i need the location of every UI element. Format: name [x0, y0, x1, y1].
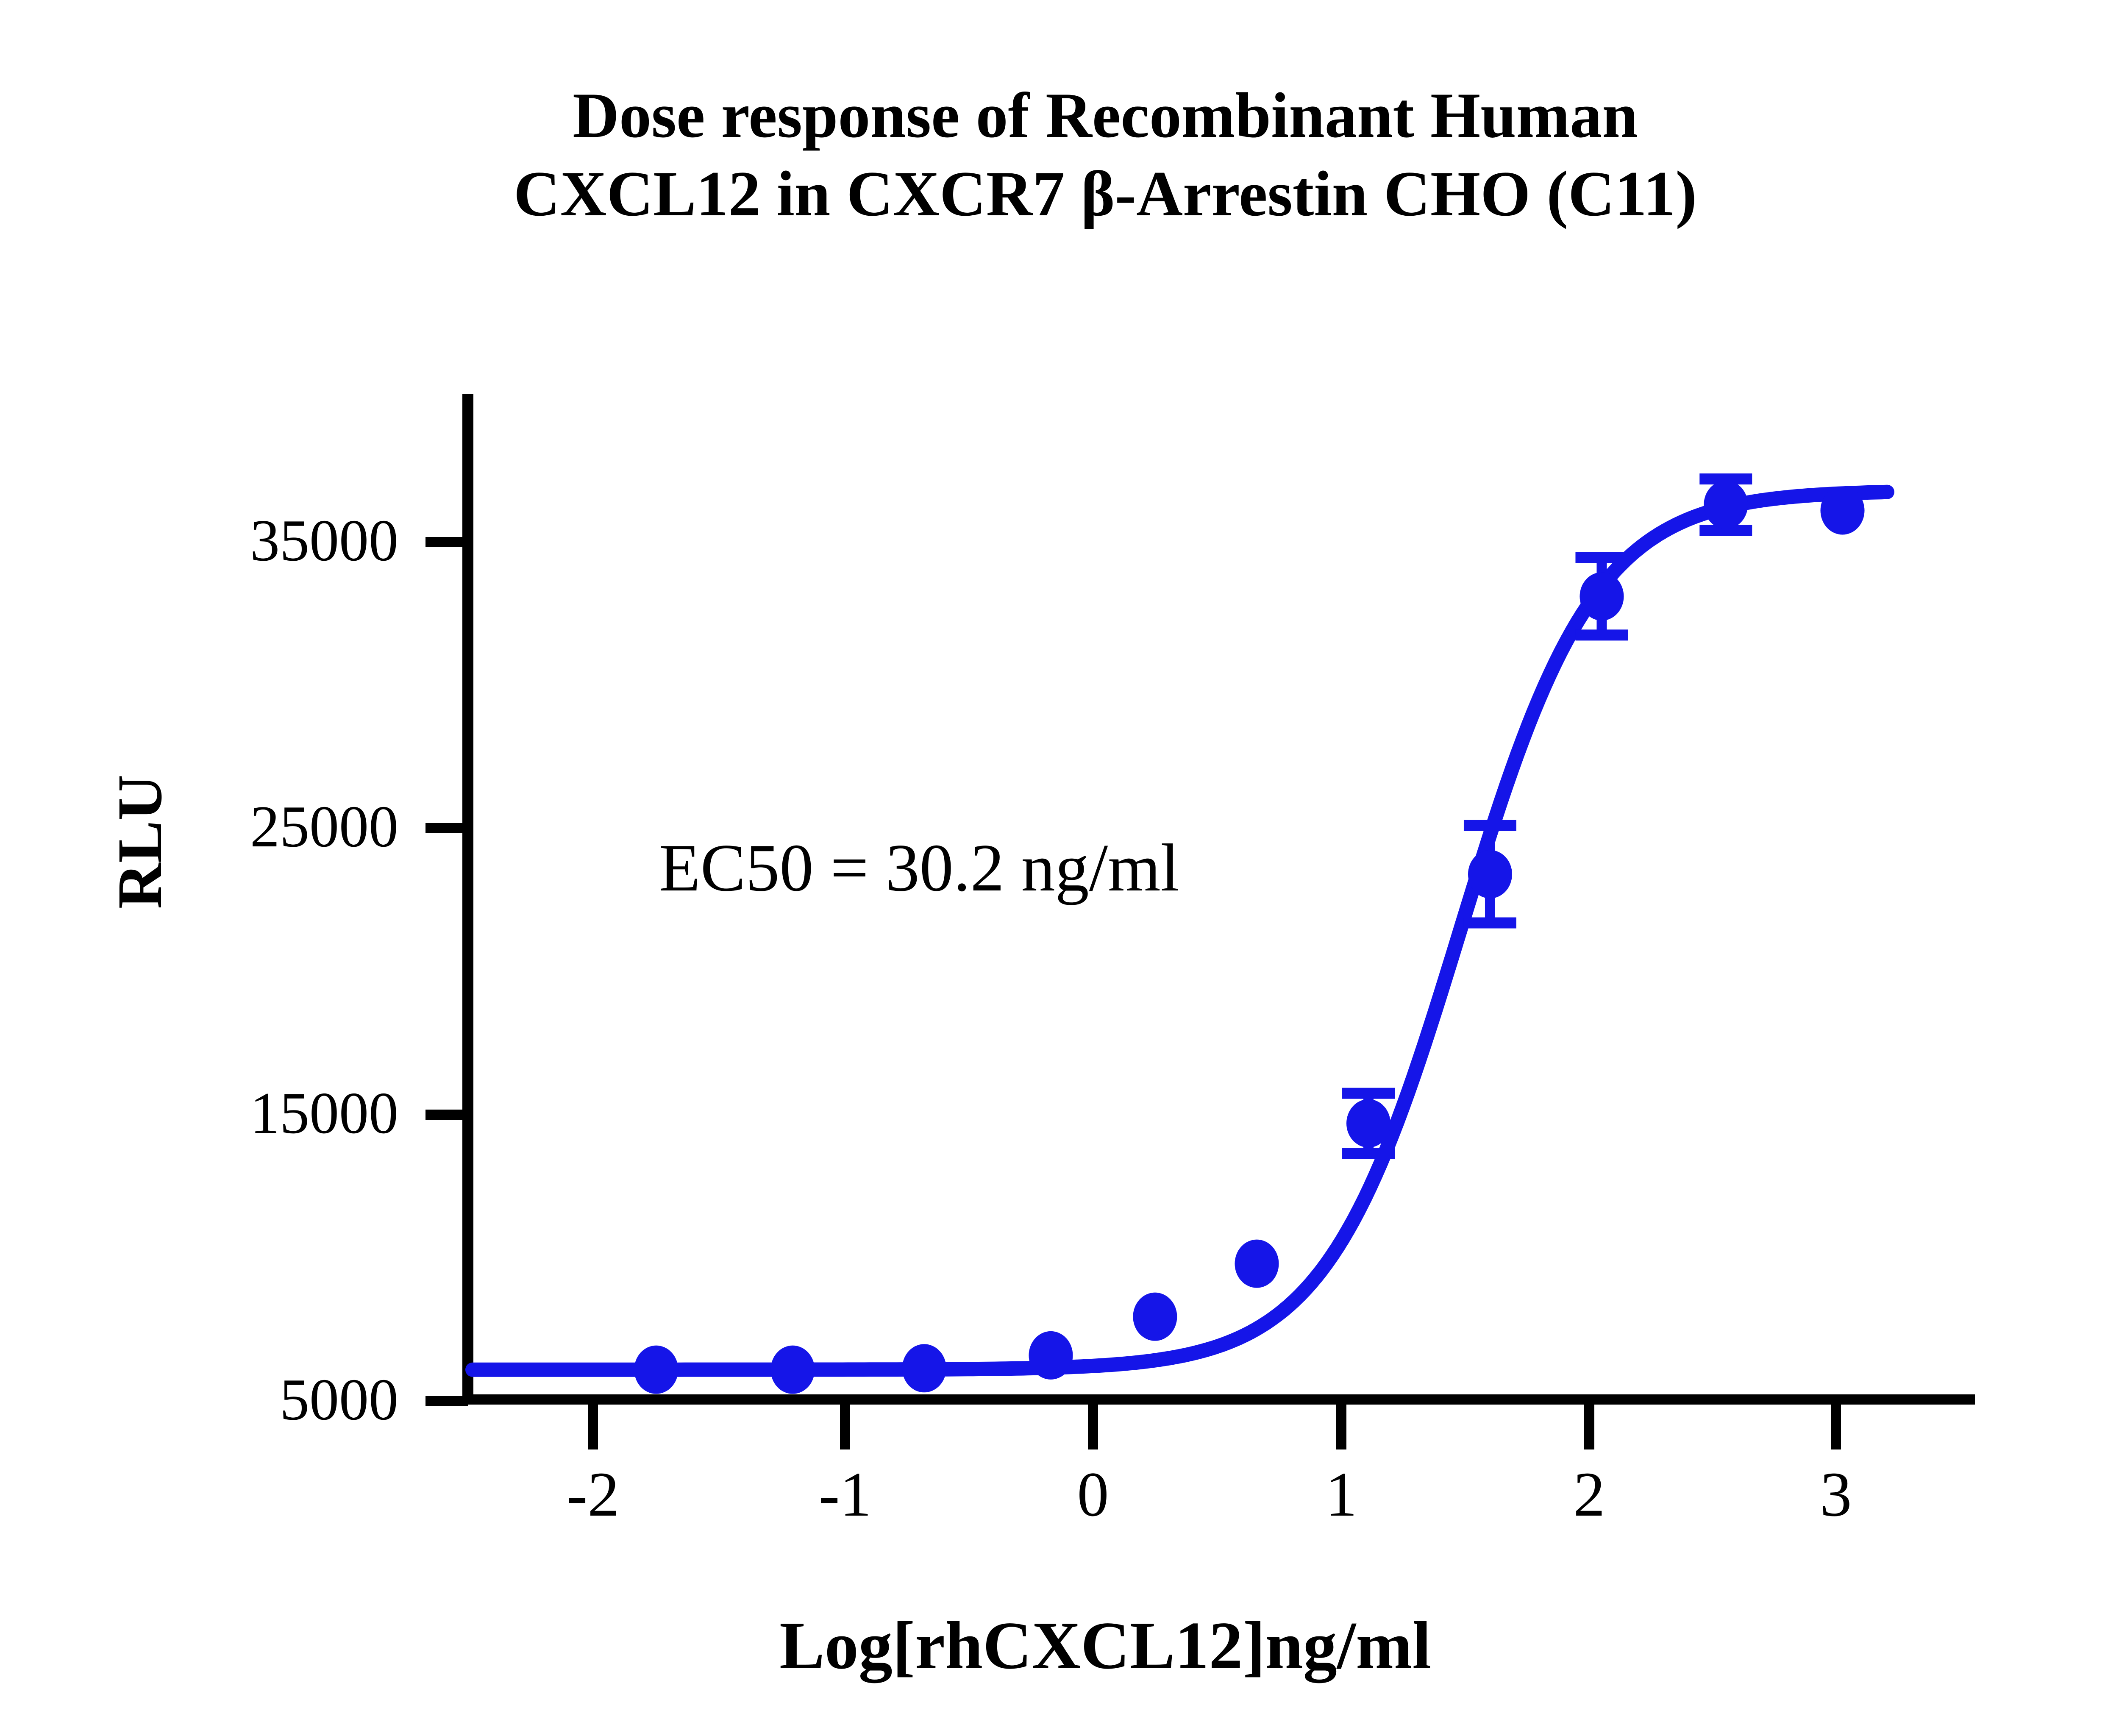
y-tick-label-5000: 5000 [76, 1366, 398, 1434]
x-tick-label-1: 1 [1278, 1458, 1405, 1531]
data-point [1580, 572, 1624, 620]
data-point [1346, 1099, 1390, 1148]
data-point [1704, 481, 1748, 529]
x-axis-label: Log[rhCXCL12]ng/ml [0, 1606, 2119, 1685]
axes-group [425, 394, 1975, 1449]
y-axis-label: RLU [103, 651, 176, 1032]
data-point [770, 1346, 815, 1394]
data-point [1468, 850, 1512, 899]
data-point [634, 1346, 678, 1394]
ec50-annotation: EC50 = 30.2 ng/ml [659, 829, 1179, 907]
x-tick-label--2: -2 [529, 1458, 656, 1531]
data-point [1235, 1240, 1279, 1288]
fit-curve [473, 492, 1887, 1370]
y-tick-label-35000: 35000 [76, 506, 398, 575]
x-tick-label-2: 2 [1526, 1458, 1653, 1531]
data-series-layer [473, 479, 1887, 1394]
x-tick-label-0: 0 [1029, 1458, 1157, 1531]
data-point [1821, 486, 1865, 534]
y-tick-label-15000: 15000 [76, 1079, 398, 1147]
x-tick-label-3: 3 [1772, 1458, 1899, 1531]
data-point [902, 1344, 946, 1392]
chart-figure: Dose response of Recombinant Human CXCL1… [0, 0, 2119, 1736]
data-point [1029, 1331, 1073, 1380]
data-point [1133, 1293, 1177, 1341]
x-tick-label--1: -1 [781, 1458, 909, 1531]
